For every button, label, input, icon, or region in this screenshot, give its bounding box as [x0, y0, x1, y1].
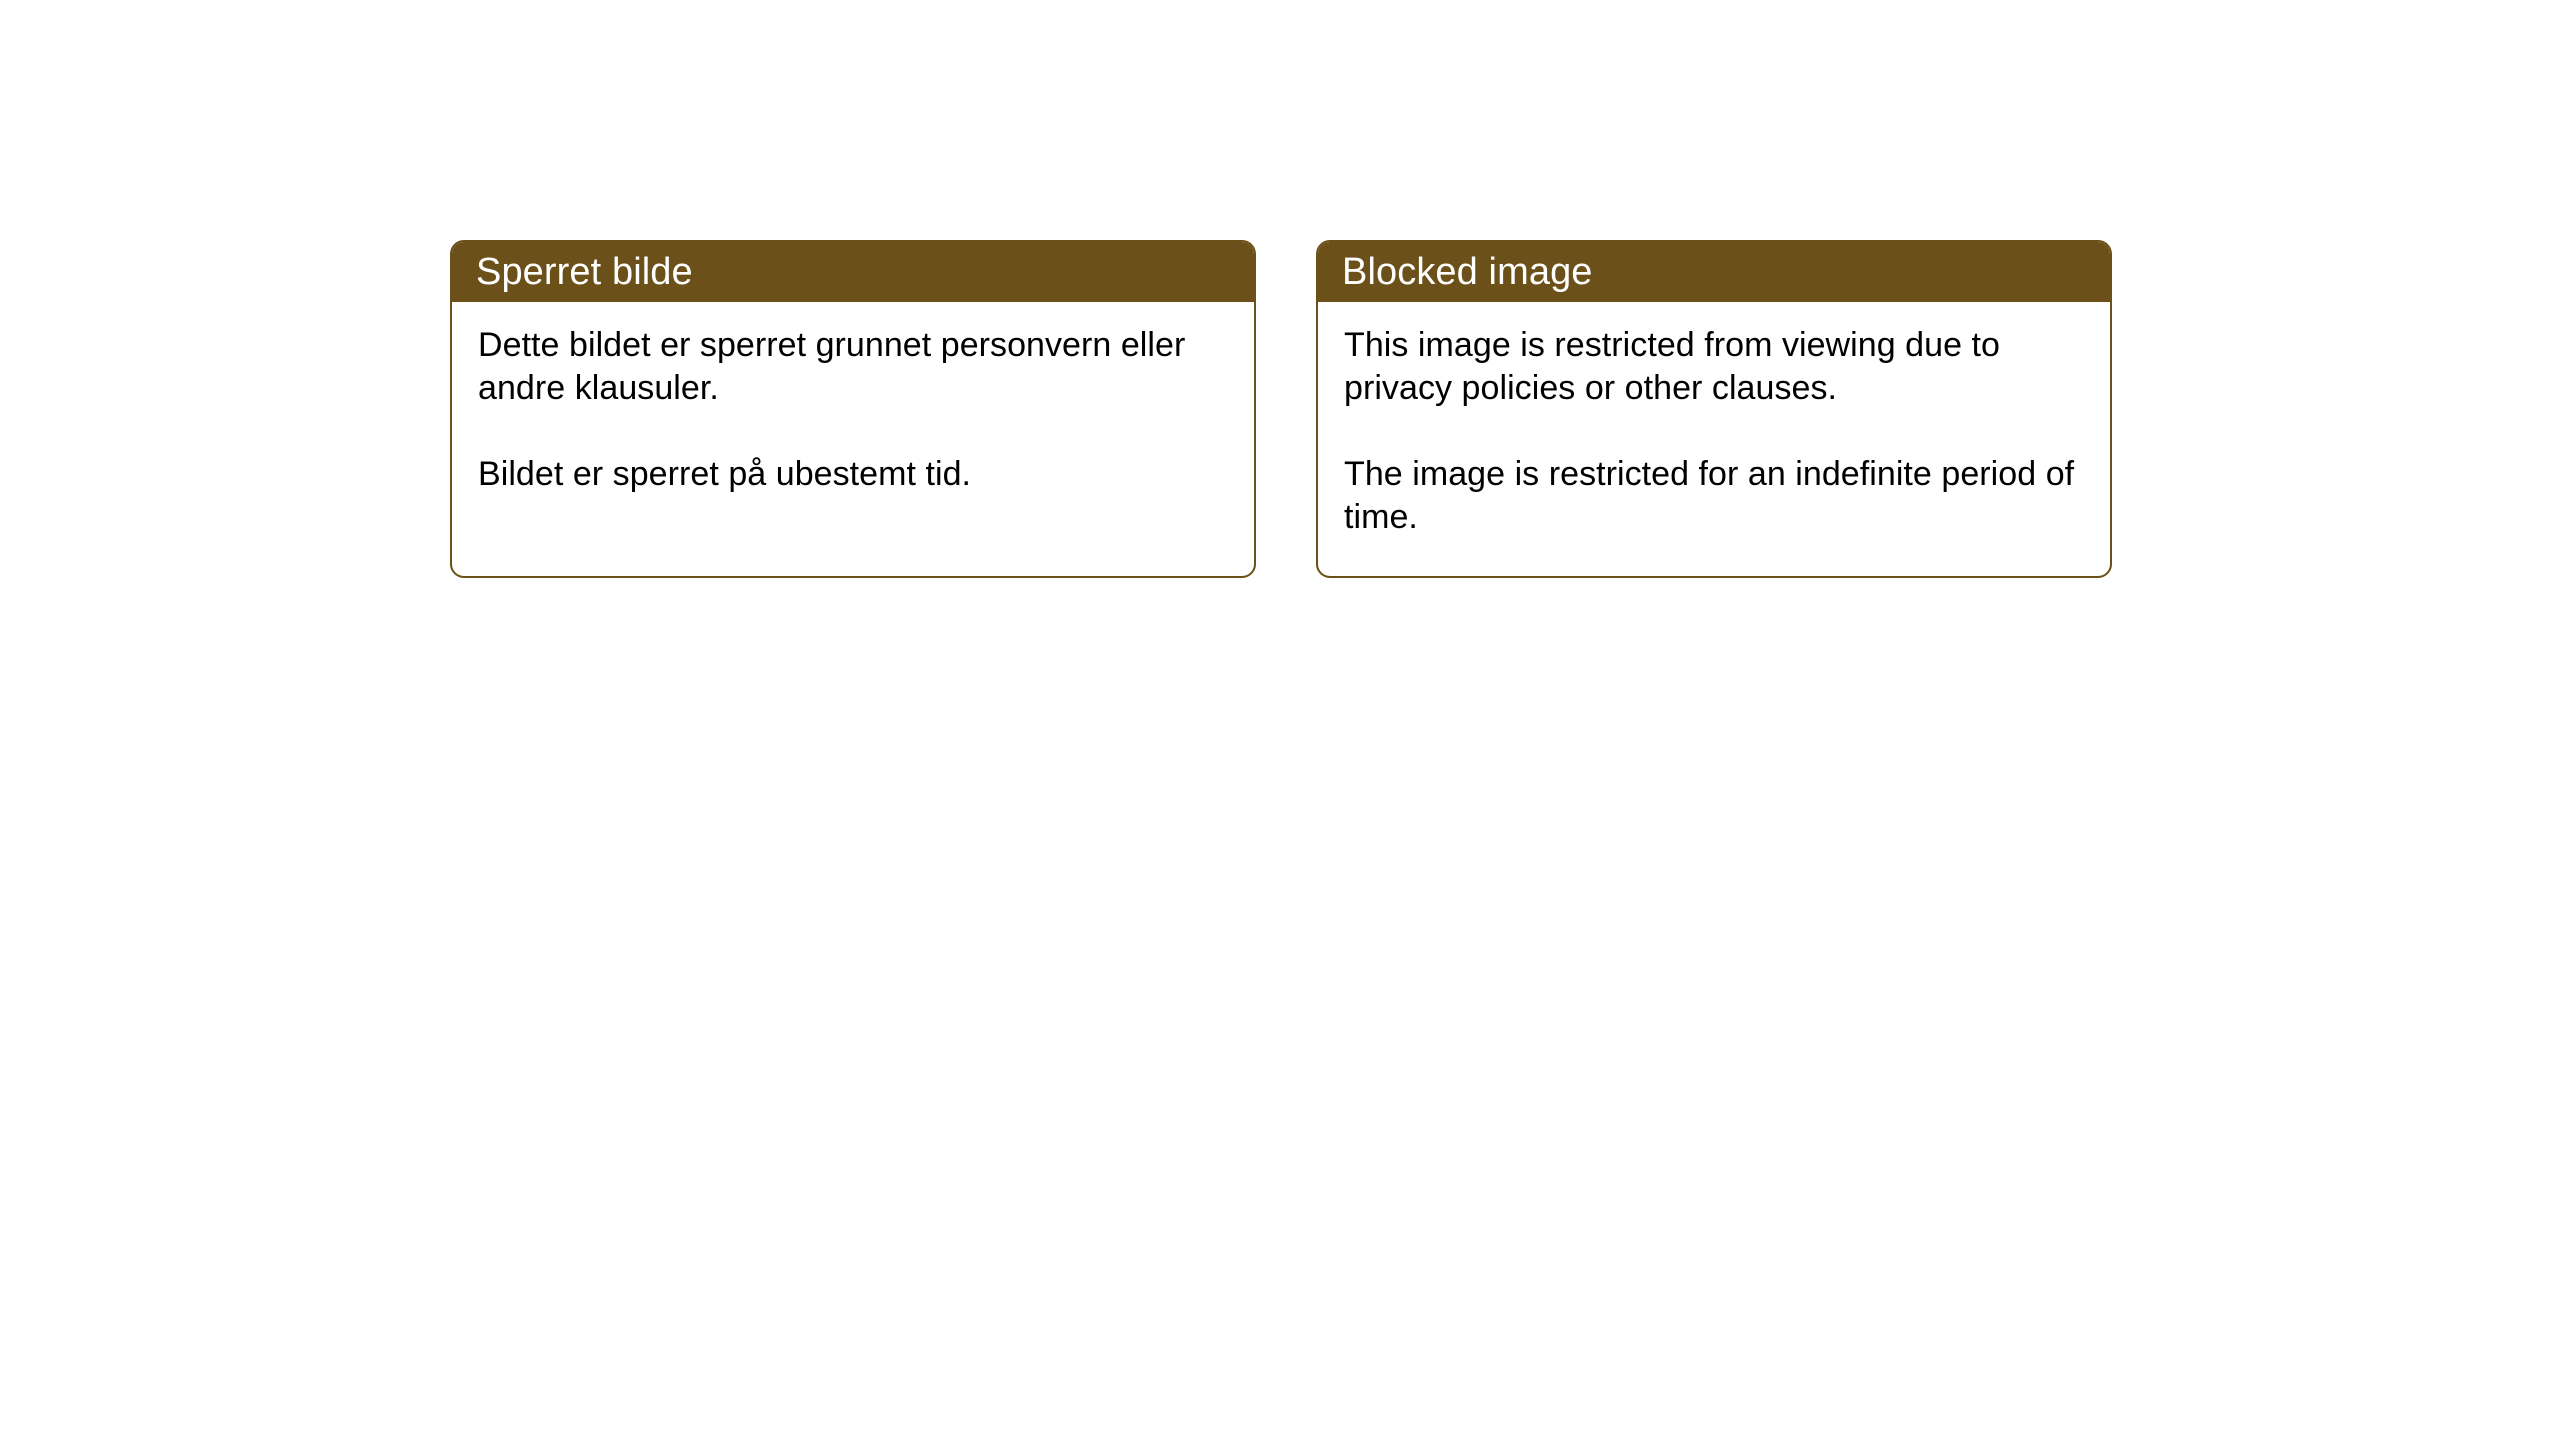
page-root: Sperret bilde Dette bildet er sperret gr… [0, 0, 2560, 1440]
blocked-image-card-en: Blocked image This image is restricted f… [1316, 240, 2112, 578]
card-paragraph-en-1: This image is restricted from viewing du… [1344, 324, 2084, 410]
card-header-no: Sperret bilde [452, 242, 1254, 302]
card-title-en: Blocked image [1342, 250, 1593, 294]
card-body-en: This image is restricted from viewing du… [1318, 302, 2110, 539]
card-header-en: Blocked image [1318, 242, 2110, 302]
card-title-no: Sperret bilde [476, 250, 693, 294]
card-paragraph-no-1: Dette bildet er sperret grunnet personve… [478, 324, 1228, 410]
card-paragraph-en-2: The image is restricted for an indefinit… [1344, 453, 2084, 539]
blocked-image-card-no: Sperret bilde Dette bildet er sperret gr… [450, 240, 1256, 578]
card-paragraph-no-2: Bildet er sperret på ubestemt tid. [478, 453, 1228, 496]
card-body-no: Dette bildet er sperret grunnet personve… [452, 302, 1254, 496]
